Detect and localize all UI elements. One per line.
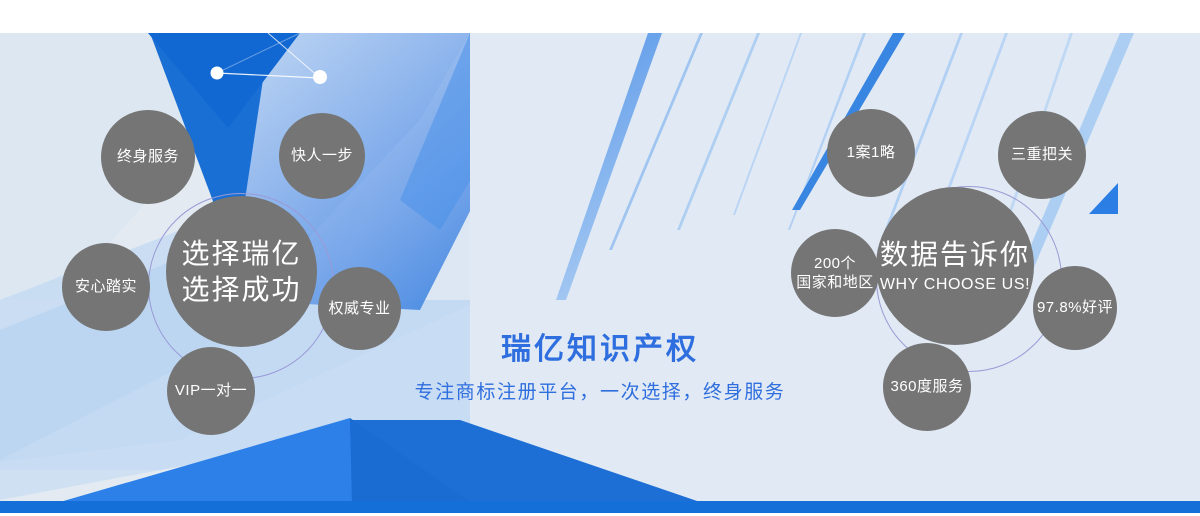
bubble-200-countries[interactable]: 200个 国家和地区 [791, 229, 879, 317]
bubble-360-service[interactable]: 360度服务 [883, 343, 971, 431]
bubble-peace-of-mind-label: 安心踏实 [75, 278, 137, 295]
left-center-line1: 选择瑞亿 [181, 236, 301, 272]
promo-banner: 选择瑞亿 选择成功 终身服务 快人一步 安心踏实 权威专业 VIP一对一 数据告… [0, 0, 1200, 516]
right-center-bubble[interactable]: 数据告诉你 WHY CHOOSE US! [876, 187, 1034, 345]
bubble-vip-one-to-one-label: VIP一对一 [175, 382, 247, 399]
bubble-one-step-ahead[interactable]: 快人一步 [279, 113, 365, 199]
bubble-200-countries-line2: 国家和地区 [796, 273, 874, 293]
bubble-one-case-one-strategy[interactable]: 1案1略 [827, 109, 915, 197]
bubble-triple-check[interactable]: 三重把关 [998, 111, 1086, 199]
bubble-one-step-ahead-label: 快人一步 [291, 147, 353, 164]
bubble-lifetime-service-label: 终身服务 [117, 148, 179, 165]
bubble-lifetime-service[interactable]: 终身服务 [101, 110, 195, 204]
bubble-peace-of-mind[interactable]: 安心踏实 [62, 243, 150, 331]
bubble-200-countries-line1: 200个 [814, 254, 856, 274]
right-center-line1: 数据告诉你 [880, 237, 1030, 273]
bubble-vip-one-to-one[interactable]: VIP一对一 [167, 347, 255, 435]
left-center-line2: 选择成功 [181, 272, 301, 308]
bottom-accent-bar [0, 501, 1200, 513]
bubble-360-service-label: 360度服务 [890, 378, 963, 395]
left-center-bubble[interactable]: 选择瑞亿 选择成功 [166, 196, 317, 347]
left-cluster: 选择瑞亿 选择成功 终身服务 快人一步 安心踏实 权威专业 VIP一对一 [0, 0, 420, 460]
right-center-line2: WHY CHOOSE US! [880, 275, 1030, 295]
bubble-triple-check-label: 三重把关 [1011, 146, 1073, 163]
bubble-one-case-one-strategy-label: 1案1略 [847, 144, 896, 161]
bubble-authoritative-professional[interactable]: 权威专业 [318, 267, 401, 350]
bubble-authoritative-professional-label: 权威专业 [328, 300, 390, 317]
bubble-satisfaction-rate[interactable]: 97.8%好评 [1033, 266, 1117, 350]
bubble-satisfaction-rate-label: 97.8%好评 [1037, 299, 1113, 316]
right-cluster: 数据告诉你 WHY CHOOSE US! 1案1略 三重把关 200个 国家和地… [780, 0, 1200, 460]
